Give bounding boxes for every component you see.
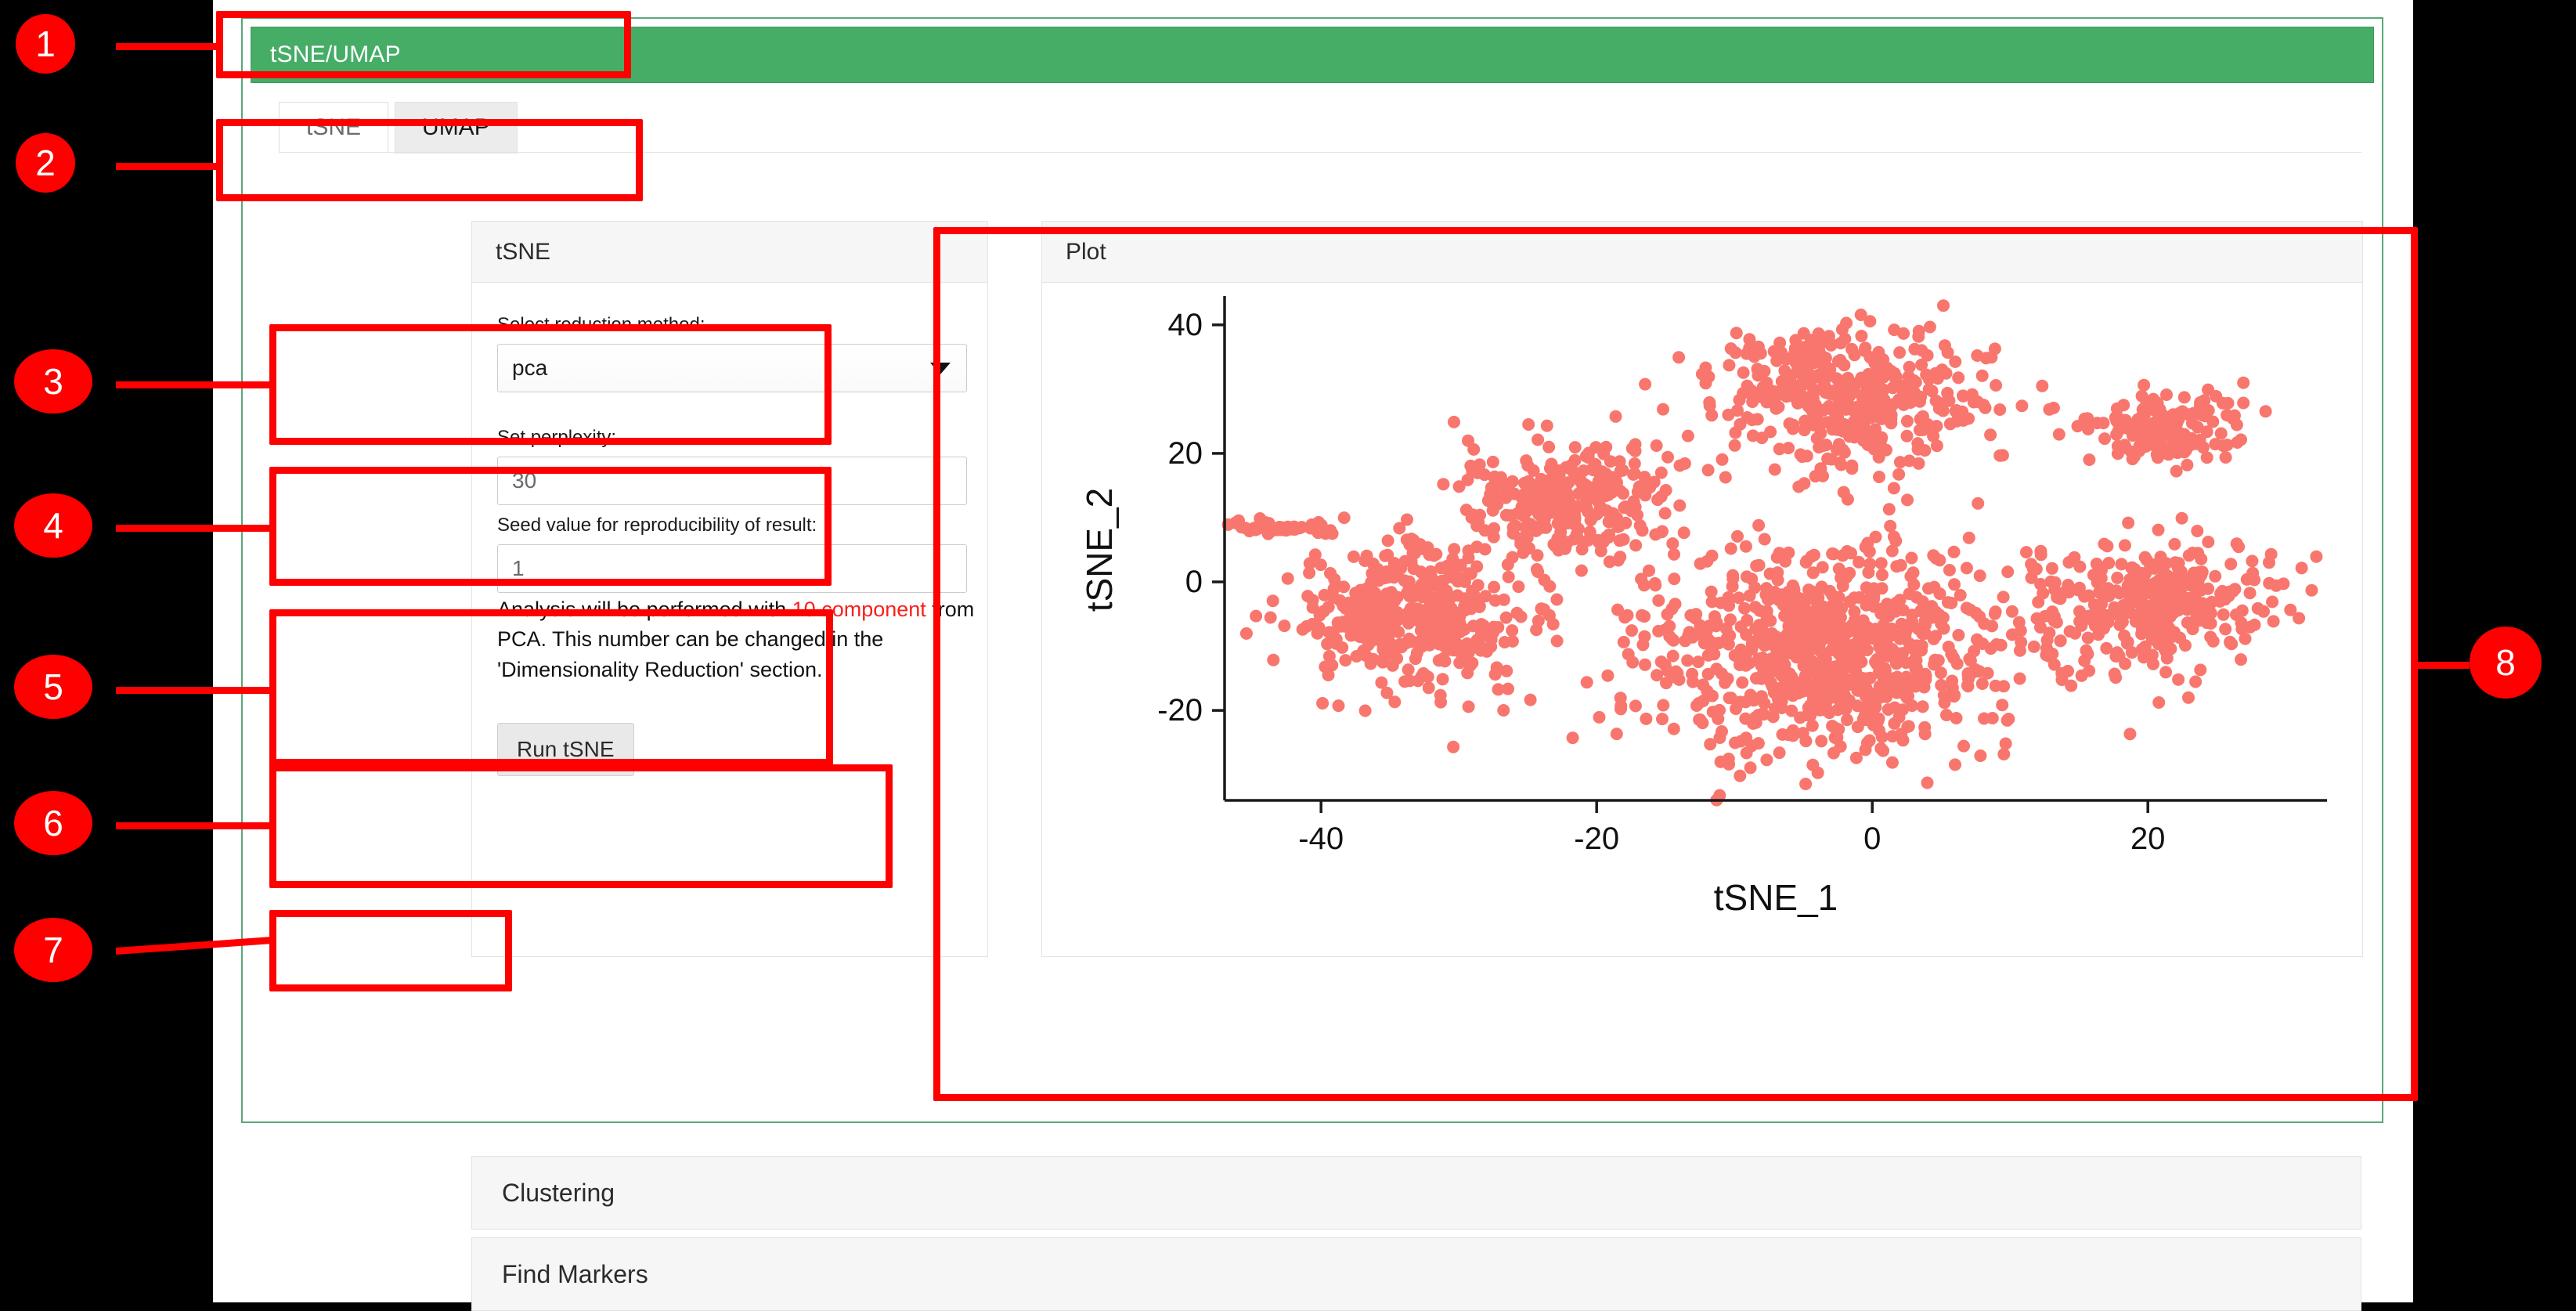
leader-line-2	[116, 163, 219, 170]
annotation-marker-7: 7	[14, 918, 92, 982]
accordion-clustering-label: Clustering	[472, 1179, 615, 1208]
annotation-marker-5-label: 5	[43, 666, 63, 708]
annotation-marker-6-label: 6	[43, 802, 63, 844]
annotation-marker-2: 2	[16, 133, 75, 193]
annotation-marker-4-label: 4	[43, 504, 63, 547]
annotation-box-8	[933, 227, 2418, 1101]
leader-line-1	[116, 43, 219, 50]
annotation-box-7	[269, 910, 512, 991]
accordion-item-find-markers[interactable]: Find Markers	[471, 1237, 2361, 1311]
annotation-marker-5: 5	[14, 655, 92, 719]
annotation-marker-1: 1	[16, 14, 75, 74]
annotation-marker-2-label: 2	[35, 142, 56, 184]
leader-line-5	[116, 687, 272, 694]
annotation-marker-3: 3	[14, 349, 92, 414]
leader-line-3	[116, 381, 272, 388]
annotation-marker-6: 6	[14, 791, 92, 855]
annotation-marker-1-label: 1	[35, 23, 56, 65]
tsne-panel-title: tSNE	[472, 239, 550, 265]
annotation-marker-8: 8	[2470, 627, 2542, 699]
annotation-box-5	[269, 609, 833, 766]
leader-line-4	[116, 525, 272, 532]
annotation-box-6	[269, 764, 893, 888]
leader-line-6	[116, 822, 272, 829]
annotation-marker-4: 4	[14, 493, 92, 558]
annotation-box-4	[269, 467, 832, 586]
accordion-find-markers-label: Find Markers	[472, 1260, 648, 1289]
annotation-box-1	[216, 11, 631, 78]
annotation-box-2	[216, 119, 643, 201]
annotation-marker-3-label: 3	[43, 360, 63, 403]
tsne-panel-header: tSNE	[472, 222, 987, 283]
annotation-marker-8-label: 8	[2495, 641, 2516, 684]
annotation-box-3	[269, 324, 832, 445]
accordion-item-clustering[interactable]: Clustering	[471, 1156, 2361, 1230]
annotation-marker-7-label: 7	[43, 929, 63, 971]
leader-line-8	[2415, 662, 2470, 669]
